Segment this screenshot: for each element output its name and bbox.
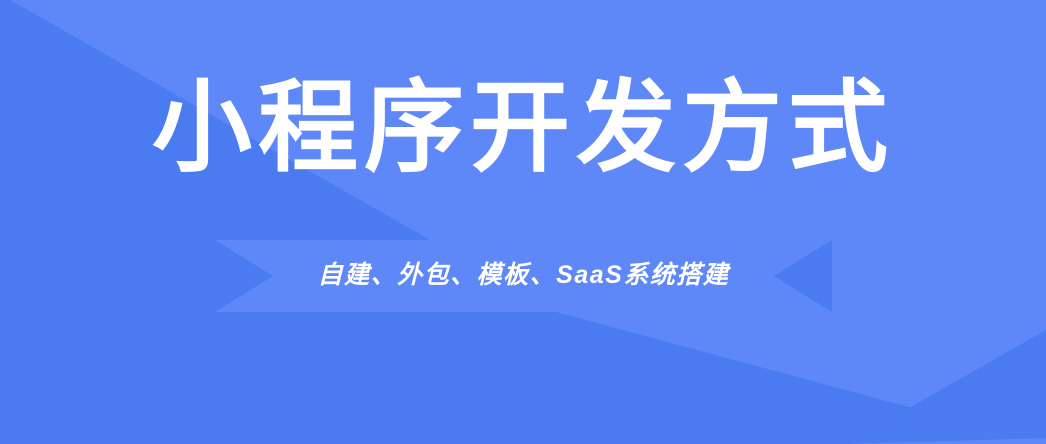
- background-diagonal-graphic: [0, 0, 1046, 444]
- banner-title: 小程序开发方式: [0, 72, 1046, 184]
- subtitle-ribbon: 自建、外包、模板、SaaS系统搭建: [215, 240, 832, 312]
- banner-subtitle: 自建、外包、模板、SaaS系统搭建: [215, 240, 832, 312]
- promo-banner: 小程序开发方式 自建、外包、模板、SaaS系统搭建: [0, 0, 1046, 444]
